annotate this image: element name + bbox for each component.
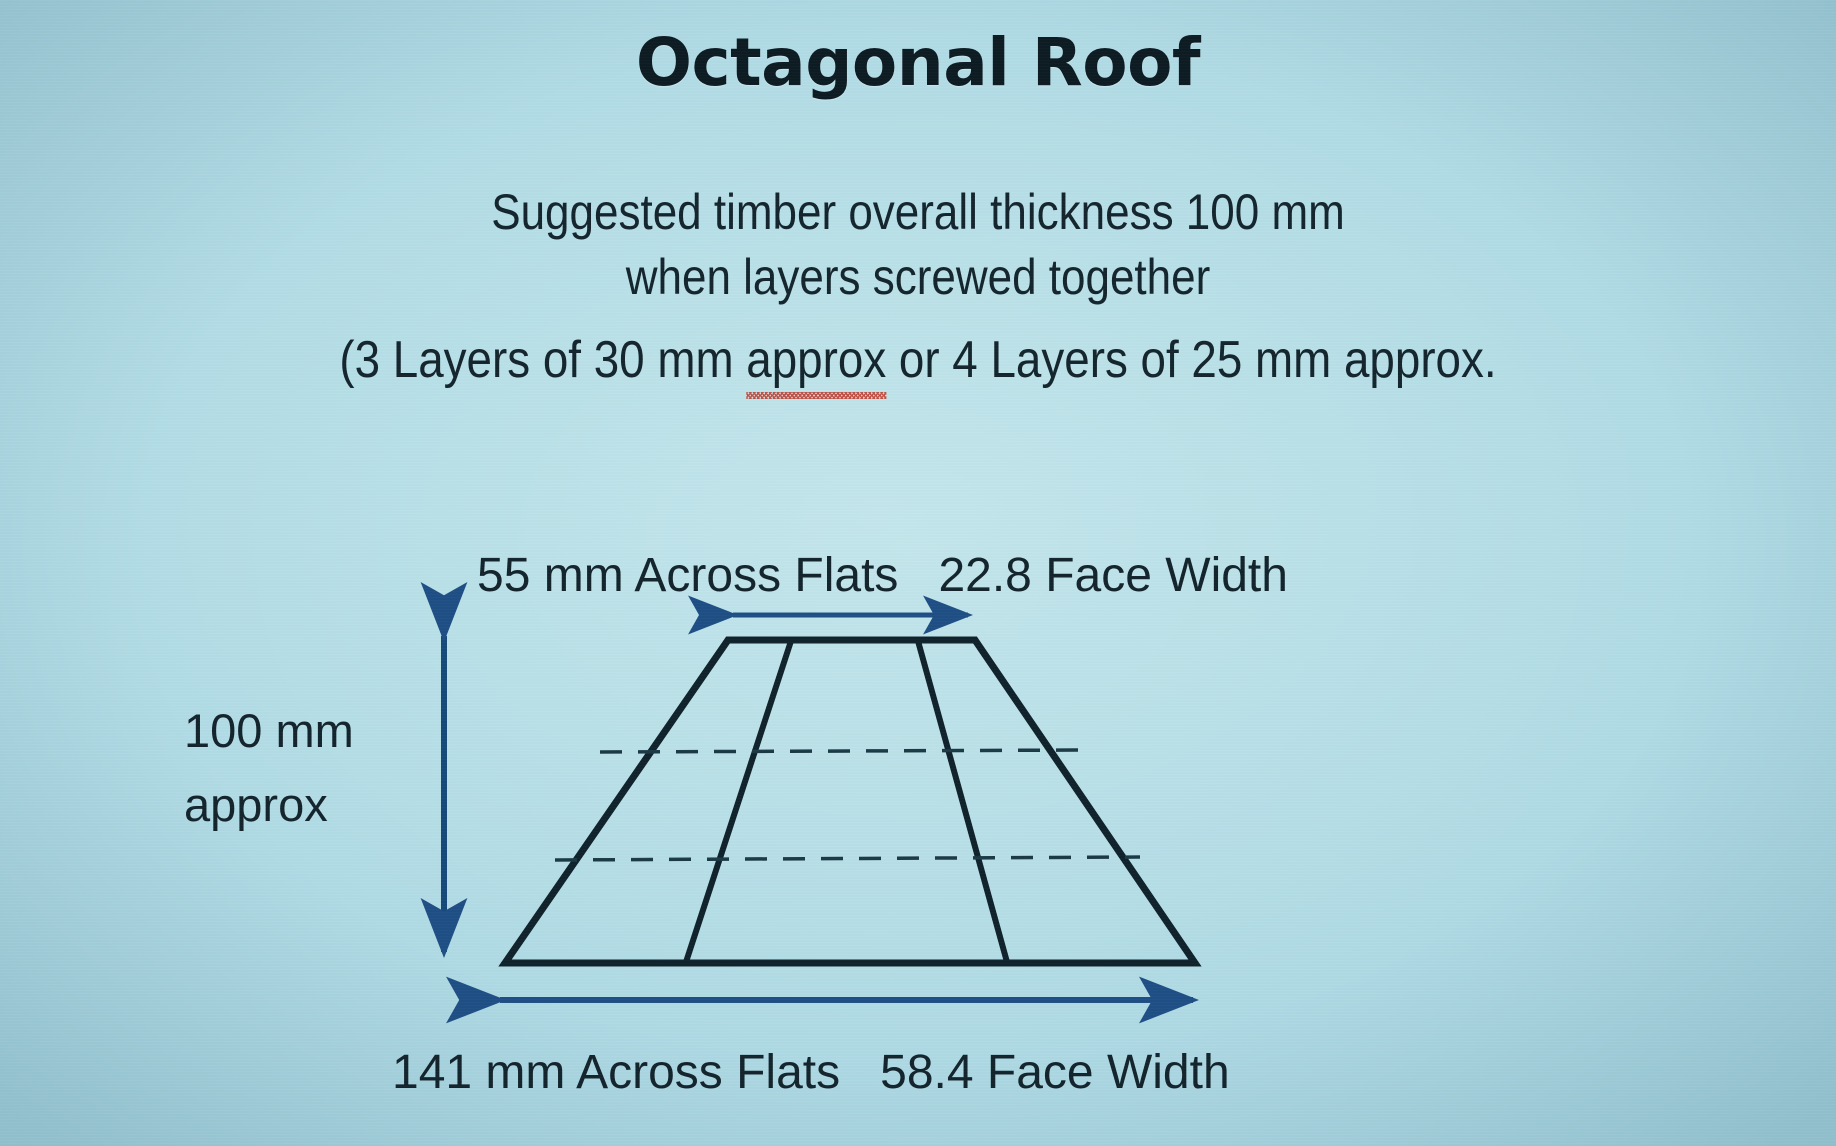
octagonal-roof-trapezoid-figure <box>0 0 1836 1146</box>
dashed-layer-line-lower <box>555 857 1140 860</box>
trapezoid-outline <box>505 640 1195 963</box>
inner-segment-line-left <box>686 641 791 962</box>
slide-canvas: Octagonal Roof Suggested timber overall … <box>0 0 1836 1146</box>
dashed-layer-line-upper <box>600 750 1090 752</box>
inner-segment-line-right <box>918 641 1007 962</box>
